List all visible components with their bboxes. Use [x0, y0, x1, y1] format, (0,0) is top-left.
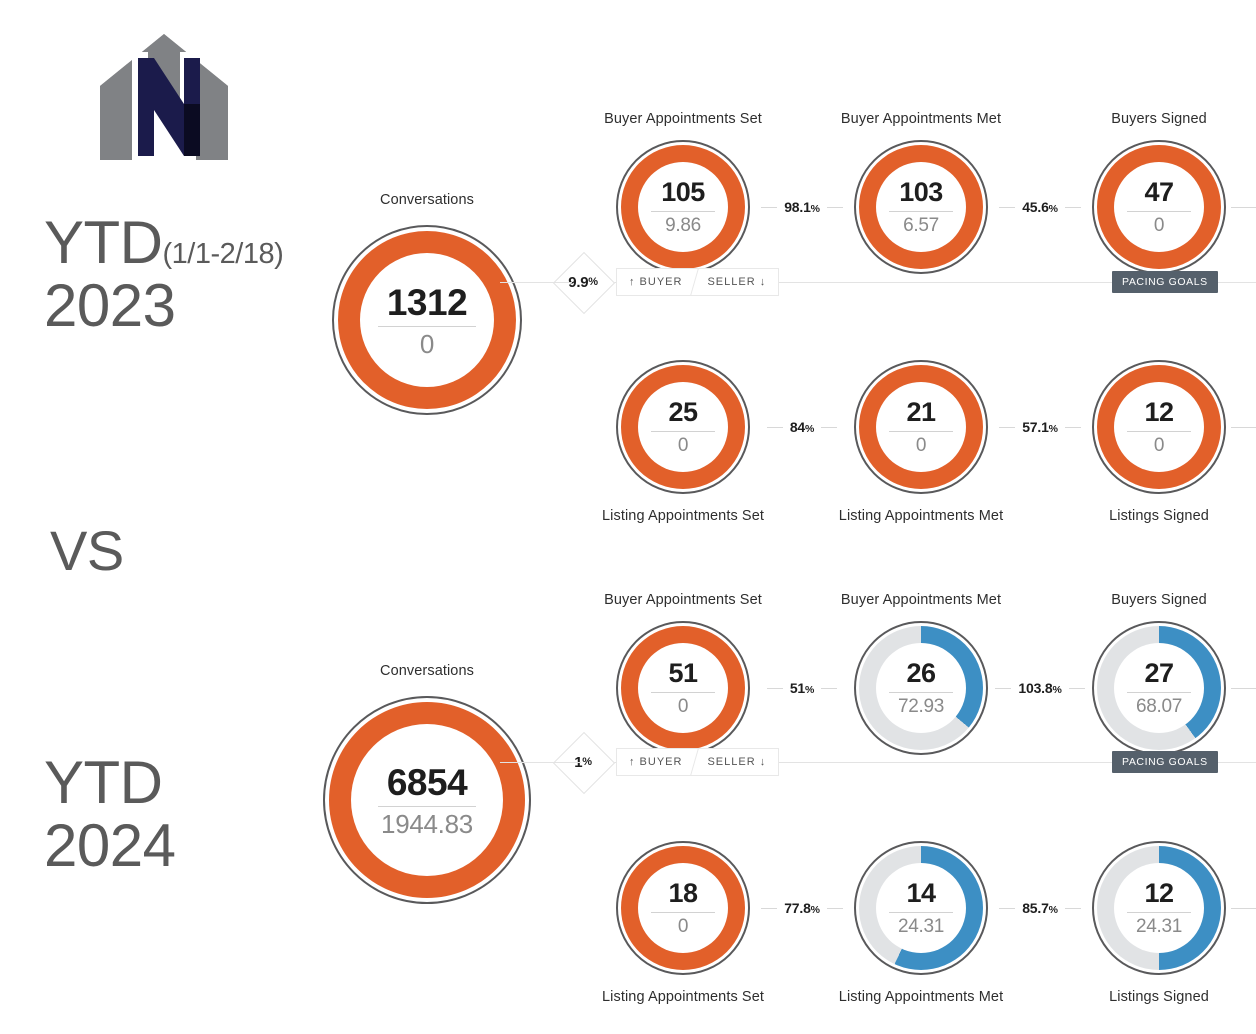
- gauge-subvalue-buyer-0-ytd-2024: 0: [678, 697, 688, 716]
- gauge-listing-1-ytd-2024[interactable]: 1424.31: [854, 841, 988, 975]
- gauge-center-listing-0-ytd-2024: 180: [638, 863, 728, 953]
- buyer-tab-ytd-2024[interactable]: ↑ BUYER: [617, 749, 694, 775]
- connector-listing-0-ytd-2023: 84%: [742, 417, 862, 437]
- gauge-value-buyer-1-ytd-2023: 103: [899, 179, 943, 206]
- gauge-listing-0-ytd-2023[interactable]: 250: [616, 360, 750, 494]
- connector-listing-1-ytd-2024: 85.7%: [980, 898, 1100, 918]
- gauge-subvalue-listing-2-ytd-2023: 0: [1154, 436, 1164, 455]
- gauge-caption-conversations-ytd-2024: Conversations: [267, 663, 587, 679]
- gauge-value-buyer-0-ytd-2024: 51: [668, 660, 697, 687]
- connector-percent-buyer-0-ytd-2024: 51%: [790, 680, 814, 696]
- gauge-divider-buyer-1-ytd-2024: [889, 692, 953, 693]
- gauge-divider-buyer-2-ytd-2024: [1127, 692, 1191, 693]
- connector-line-left: [999, 908, 1015, 909]
- connector-buyer-0-ytd-2024: 51%: [742, 678, 862, 698]
- gauge-center-listing-1-ytd-2024: 1424.31: [876, 863, 966, 953]
- edge-line-0-ytd-2023: [1231, 207, 1256, 208]
- period-ytd-label-2024: YTD: [44, 749, 163, 816]
- gauge-value-conversations-ytd-2024: 6854: [387, 764, 467, 801]
- connector-line-right: [827, 908, 843, 909]
- gauge-value-buyer-2-ytd-2024: 27: [1144, 660, 1173, 687]
- buyer-seller-toggle-ytd-2023[interactable]: ↑ BUYERSELLER ↓: [616, 268, 779, 296]
- connector-line-left: [767, 427, 783, 428]
- connector-percent-buyer-1-ytd-2024: 103.8%: [1018, 680, 1061, 696]
- rail-stub-left-ytd-2024: [521, 762, 581, 763]
- gauge-conversations-ytd-2023[interactable]: 13120: [332, 225, 522, 415]
- gauge-caption-buyer-2-ytd-2023: Buyers Signed: [999, 111, 1256, 127]
- gauge-divider-listing-0-ytd-2023: [651, 431, 715, 432]
- house-n-logo: [88, 28, 240, 168]
- gauge-divider-listing-2-ytd-2023: [1127, 431, 1191, 432]
- connector-line-right: [1065, 427, 1081, 428]
- gauge-value-conversations-ytd-2023: 1312: [387, 284, 467, 321]
- connector-buyer-1-ytd-2023: 45.6%: [980, 197, 1100, 217]
- center-rail-ytd-2024: 1%↑ BUYERSELLER ↓PACING GOALS: [500, 732, 1256, 792]
- gauge-listing-1-ytd-2023[interactable]: 210: [854, 360, 988, 494]
- gauge-center-conversations-ytd-2023: 13120: [360, 253, 494, 387]
- gauge-value-buyer-0-ytd-2023: 105: [661, 179, 705, 206]
- gauge-value-listing-1-ytd-2024: 14: [906, 880, 935, 907]
- connector-listing-0-ytd-2024: 77.8%: [742, 898, 862, 918]
- connector-buyer-1-ytd-2024: 103.8%: [980, 678, 1100, 698]
- connector-percent-buyer-1-ytd-2023: 45.6%: [1022, 199, 1058, 215]
- gauge-value-listing-2-ytd-2024: 12: [1144, 880, 1173, 907]
- period-year-2023: 2023: [44, 275, 283, 336]
- gauge-caption-listing-2-ytd-2023: Listings Signed: [999, 508, 1256, 524]
- gauge-caption-conversations-ytd-2023: Conversations: [267, 192, 587, 208]
- seller-tab-ytd-2024[interactable]: SELLER ↓: [695, 749, 778, 775]
- gauge-subvalue-listing-1-ytd-2023: 0: [916, 436, 926, 455]
- connector-line-right: [821, 688, 837, 689]
- pacing-goals-badge-ytd-2024[interactable]: PACING GOALS: [1112, 751, 1218, 773]
- connector-line-right: [827, 207, 843, 208]
- connector-line-left: [999, 427, 1015, 428]
- period-year-2024: 2024: [44, 815, 175, 876]
- connector-listing-1-ytd-2023: 57.1%: [980, 417, 1100, 437]
- gauge-center-buyer-2-ytd-2023: 470: [1114, 162, 1204, 252]
- gauge-value-buyer-1-ytd-2024: 26: [906, 660, 935, 687]
- gauge-subvalue-listing-0-ytd-2024: 0: [678, 917, 688, 936]
- connector-line-right: [1065, 908, 1081, 909]
- rail-stub-left-ytd-2023: [512, 282, 572, 283]
- gauge-value-listing-0-ytd-2024: 18: [668, 880, 697, 907]
- gauge-divider-conversations-ytd-2024: [378, 806, 476, 807]
- connector-percent-listing-1-ytd-2024: 85.7%: [1022, 900, 1058, 916]
- gauge-subvalue-listing-0-ytd-2023: 0: [678, 436, 688, 455]
- gauge-center-buyer-0-ytd-2024: 510: [638, 643, 728, 733]
- connector-percent-listing-0-ytd-2023: 84%: [790, 419, 814, 435]
- connector-line-left: [995, 688, 1011, 689]
- buyer-tab-ytd-2023[interactable]: ↑ BUYER: [617, 269, 694, 295]
- gauge-subvalue-conversations-ytd-2024: 1944.83: [381, 811, 473, 837]
- period-ytd-label-2023: YTD: [44, 209, 163, 276]
- pacing-goals-badge-ytd-2023[interactable]: PACING GOALS: [1112, 271, 1218, 293]
- connector-line-right: [1069, 688, 1085, 689]
- gauge-caption-listing-2-ytd-2024: Listings Signed: [999, 989, 1256, 1005]
- gauge-divider-buyer-2-ytd-2023: [1127, 211, 1191, 212]
- connector-line-left: [767, 688, 783, 689]
- gauge-listing-0-ytd-2024[interactable]: 180: [616, 841, 750, 975]
- gauge-subvalue-buyer-2-ytd-2023: 0: [1154, 216, 1164, 235]
- connector-line-right: [1065, 207, 1081, 208]
- gauge-subvalue-buyer-1-ytd-2024: 72.93: [898, 697, 944, 716]
- gauge-caption-buyer-2-ytd-2024: Buyers Signed: [999, 592, 1256, 608]
- gauge-center-buyer-1-ytd-2023: 1036.57: [876, 162, 966, 252]
- gauge-center-listing-1-ytd-2023: 210: [876, 382, 966, 472]
- gauge-divider-listing-0-ytd-2024: [651, 912, 715, 913]
- center-rail-ytd-2023: 9.9%↑ BUYERSELLER ↓PACING GOALS: [500, 252, 1256, 312]
- gauge-value-listing-1-ytd-2023: 21: [906, 399, 935, 426]
- vs-label: VS: [50, 518, 124, 583]
- gauge-divider-buyer-0-ytd-2024: [651, 692, 715, 693]
- gauge-divider-listing-1-ytd-2024: [889, 912, 953, 913]
- connector-line-left: [761, 908, 777, 909]
- gauge-subvalue-listing-2-ytd-2024: 24.31: [1136, 917, 1182, 936]
- gauge-divider-conversations-ytd-2023: [378, 326, 476, 327]
- gauge-center-listing-2-ytd-2024: 1224.31: [1114, 863, 1204, 953]
- period-title-2024: YTD 2024: [44, 752, 175, 876]
- gauge-listing-2-ytd-2023[interactable]: 120: [1092, 360, 1226, 494]
- connector-percent-listing-1-ytd-2023: 57.1%: [1022, 419, 1058, 435]
- edge-line-1-ytd-2024: [1231, 908, 1256, 909]
- gauge-divider-listing-1-ytd-2023: [889, 431, 953, 432]
- seller-tab-ytd-2023[interactable]: SELLER ↓: [695, 269, 778, 295]
- gauge-divider-buyer-1-ytd-2023: [889, 211, 953, 212]
- connector-line-left: [761, 207, 777, 208]
- connector-line-right: [821, 427, 837, 428]
- period-range-2023: (1/1-2/18): [163, 238, 284, 270]
- gauge-subvalue-listing-1-ytd-2024: 24.31: [898, 917, 944, 936]
- gauge-conversations-ytd-2024[interactable]: 68541944.83: [323, 696, 531, 904]
- gauge-divider-listing-2-ytd-2024: [1127, 912, 1191, 913]
- gauge-center-buyer-0-ytd-2023: 1059.86: [638, 162, 728, 252]
- edge-line-0-ytd-2024: [1231, 688, 1256, 689]
- gauge-subvalue-buyer-2-ytd-2024: 68.07: [1136, 697, 1182, 716]
- connector-buyer-0-ytd-2023: 98.1%: [742, 197, 862, 217]
- gauge-center-buyer-2-ytd-2024: 2768.07: [1114, 643, 1204, 733]
- gauge-center-buyer-1-ytd-2024: 2672.93: [876, 643, 966, 733]
- gauge-divider-buyer-0-ytd-2023: [651, 211, 715, 212]
- gauge-center-listing-2-ytd-2023: 120: [1114, 382, 1204, 472]
- gauge-subvalue-buyer-1-ytd-2023: 6.57: [903, 216, 939, 235]
- gauge-center-listing-0-ytd-2023: 250: [638, 382, 728, 472]
- gauge-value-listing-0-ytd-2023: 25: [668, 399, 697, 426]
- connector-line-left: [999, 207, 1015, 208]
- connector-percent-buyer-0-ytd-2023: 98.1%: [784, 199, 820, 215]
- gauge-value-listing-2-ytd-2023: 12: [1144, 399, 1173, 426]
- period-title-2023: YTD(1/1-2/18) 2023: [44, 212, 283, 336]
- gauge-value-buyer-2-ytd-2023: 47: [1144, 179, 1173, 206]
- gauge-subvalue-conversations-ytd-2023: 0: [420, 331, 434, 357]
- buyer-seller-toggle-ytd-2024[interactable]: ↑ BUYERSELLER ↓: [616, 748, 779, 776]
- gauge-subvalue-buyer-0-ytd-2023: 9.86: [665, 216, 701, 235]
- edge-line-1-ytd-2023: [1231, 427, 1256, 428]
- gauge-listing-2-ytd-2024[interactable]: 1224.31: [1092, 841, 1226, 975]
- gauge-center-conversations-ytd-2024: 68541944.83: [351, 724, 503, 876]
- connector-percent-listing-0-ytd-2024: 77.8%: [784, 900, 820, 916]
